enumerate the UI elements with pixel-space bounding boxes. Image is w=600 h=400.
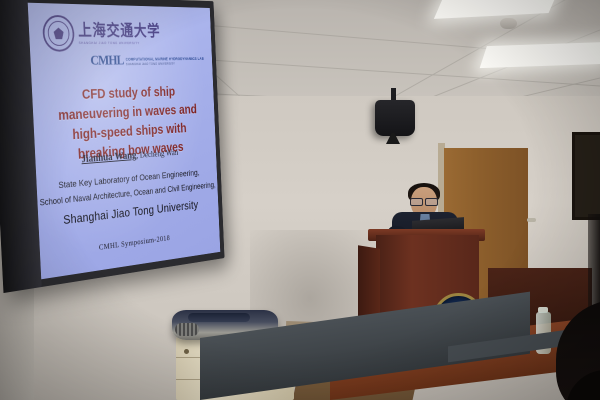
glasses-icon [410, 198, 438, 204]
presentation-photo: 上海交通大学 SHANGHAI JIAO TONG UNIVERSITY CMH… [0, 0, 600, 400]
author-coauthor: , Decheng Wan [136, 149, 178, 161]
slide-footer: CMHL Symposium-2018 [40, 226, 220, 260]
cabinet-knob [184, 349, 189, 354]
smoke-detector-icon [500, 18, 517, 29]
sjtu-seal-icon [42, 15, 75, 52]
projection-screen: 上海交通大学 SHANGHAI JIAO TONG UNIVERSITY CMH… [0, 0, 225, 293]
ceiling-light-panel [480, 42, 600, 68]
projector-vent [175, 323, 199, 336]
cmhl-mark: CMHL [90, 53, 124, 69]
cmhl-university-name: SHANGHAI JIAO TONG UNIVERSITY [126, 61, 204, 65]
presentation-slide: 上海交通大学 SHANGHAI JIAO TONG UNIVERSITY CMH… [28, 3, 221, 280]
sjtu-english-name: SHANGHAI JIAO TONG UNIVERSITY [79, 41, 161, 45]
cmhl-logo: CMHL COMPUTATIONAL MARINE HYDRODYNAMICS … [90, 53, 204, 69]
sjtu-chinese-name: 上海交通大学 [78, 23, 161, 40]
projector-lid [188, 313, 250, 322]
sjtu-logo: 上海交通大学 SHANGHAI JIAO TONG UNIVERSITY [42, 15, 161, 52]
ceiling-speaker [375, 100, 415, 136]
door-handle[interactable] [527, 218, 536, 222]
wall-picture-frame [572, 132, 600, 220]
